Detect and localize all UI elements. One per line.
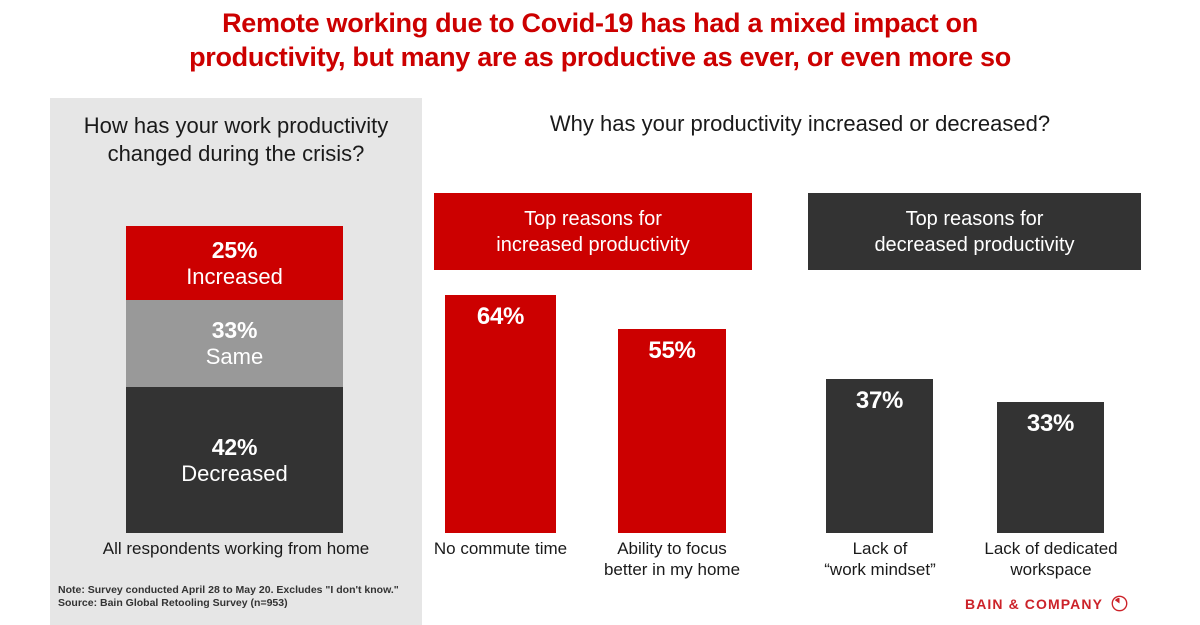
segment-label-same: Same xyxy=(206,344,263,370)
left-question-line-1: How has your work xyxy=(84,113,271,138)
left-axis-label: All respondents working from home xyxy=(50,538,422,560)
bar-no-commute-time[interactable]: 64% xyxy=(445,295,556,533)
left-panel-question: How has your work productivity changed d… xyxy=(68,112,404,168)
segment-value-decreased: 42% xyxy=(212,434,257,461)
bar-label-line: Ability to focus xyxy=(592,538,752,559)
bar-label-ability-to-focus: Ability to focus better in my home xyxy=(592,538,752,580)
bar-label-line: Lack of xyxy=(800,538,960,559)
left-question-line-3: during the crisis? xyxy=(198,141,364,166)
group-header-increased-line-1: Top reasons for xyxy=(524,206,662,232)
bar-lack-of-work-mindset[interactable]: 37% xyxy=(826,379,933,533)
brand-name: BAIN & COMPANY xyxy=(965,596,1103,612)
page-title: Remote working due to Covid-19 has had a… xyxy=(0,6,1200,74)
title-line-1: Remote working due to Covid-19 has had a… xyxy=(0,6,1200,40)
brand-logo: BAIN & COMPANY xyxy=(965,595,1128,612)
right-panel-question: Why has your productivity increased or d… xyxy=(430,110,1170,138)
group-header-decreased-line-2: decreased productivity xyxy=(874,232,1074,258)
segment-value-same: 33% xyxy=(212,317,257,344)
footnote-source: Source: Bain Global Retooling Survey (n=… xyxy=(58,597,418,610)
segment-value-increased: 25% xyxy=(212,237,257,264)
group-header-increased: Top reasons for increased productivity xyxy=(434,193,752,270)
footnote-note: Note: Survey conducted April 28 to May 2… xyxy=(58,584,418,597)
stacked-bar-chart: 25% Increased 33% Same 42% Decreased xyxy=(126,226,343,533)
bar-label-lack-of-dedicated-workspace: Lack of dedicated workspace xyxy=(970,538,1132,580)
bar-value-lack-of-work-mindset: 37% xyxy=(826,387,933,415)
left-chart-panel: How has your work productivity changed d… xyxy=(50,98,422,625)
bar-label-lack-of-work-mindset: Lack of “work mindset” xyxy=(800,538,960,580)
bar-value-lack-of-dedicated-workspace: 33% xyxy=(997,410,1104,438)
bain-circle-icon xyxy=(1111,595,1128,612)
bar-label-line: “work mindset” xyxy=(800,559,960,580)
bar-value-ability-to-focus: 55% xyxy=(618,337,726,365)
segment-label-decreased: Decreased xyxy=(181,461,287,487)
footnote: Note: Survey conducted April 28 to May 2… xyxy=(58,584,418,610)
stacked-segment-increased[interactable]: 25% Increased xyxy=(126,226,343,300)
stacked-segment-same[interactable]: 33% Same xyxy=(126,300,343,387)
stacked-segment-decreased[interactable]: 42% Decreased xyxy=(126,387,343,533)
segment-label-increased: Increased xyxy=(186,264,283,290)
bar-ability-to-focus[interactable]: 55% xyxy=(618,329,726,533)
bar-value-no-commute-time: 64% xyxy=(445,303,556,331)
group-header-decreased: Top reasons for decreased productivity xyxy=(808,193,1141,270)
bar-label-line: No commute time xyxy=(420,538,581,559)
bar-lack-of-dedicated-workspace[interactable]: 33% xyxy=(997,402,1104,533)
bar-label-line: Lack of dedicated xyxy=(970,538,1132,559)
bar-label-no-commute-time: No commute time xyxy=(420,538,581,559)
title-line-2: productivity, but many are as productive… xyxy=(0,40,1200,74)
group-header-decreased-line-1: Top reasons for xyxy=(906,206,1044,232)
bar-label-line: workspace xyxy=(970,559,1132,580)
group-header-increased-line-2: increased productivity xyxy=(496,232,689,258)
bar-label-line: better in my home xyxy=(592,559,752,580)
